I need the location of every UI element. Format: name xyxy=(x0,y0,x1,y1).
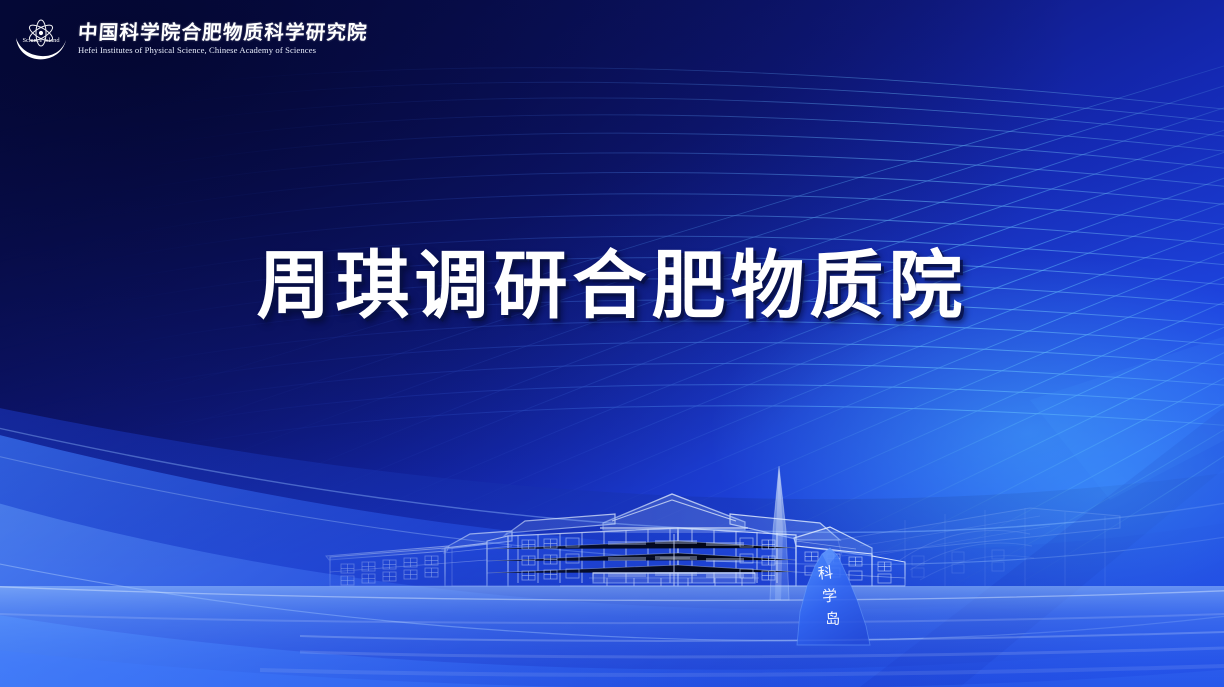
presentation-slide: 科 学 岛 Science Island xyxy=(0,0,1224,687)
slide-title-area: 周琪调研合肥物质院 xyxy=(0,247,1224,327)
logo-org-chinese: 中国科学院合肥物质科学研究院 xyxy=(77,23,368,43)
science-island-atom-emblem: Science Island xyxy=(12,16,70,62)
slide-title: 周琪调研合肥物质院 xyxy=(257,247,968,327)
logo-caption: Science Island xyxy=(22,37,60,44)
background-artwork: 科 学 岛 xyxy=(0,0,1224,687)
logo-org-english: Hefei Institutes of Physical Science, Ch… xyxy=(78,46,368,55)
institute-logo: Science Island 中国科学院合肥物质科学研究院 Hefei Inst… xyxy=(12,16,368,62)
